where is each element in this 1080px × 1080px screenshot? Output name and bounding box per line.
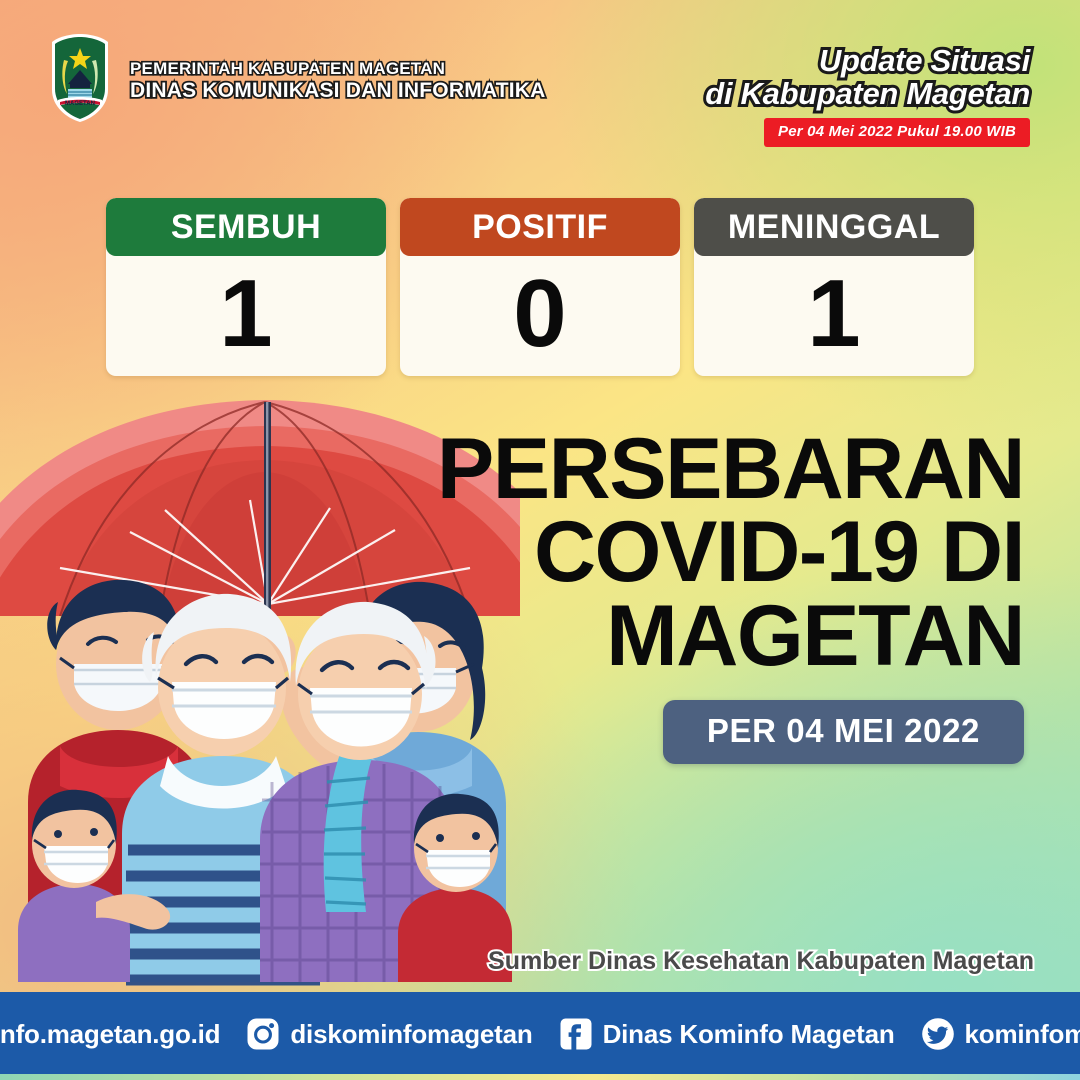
footer-facebook-label: Dinas Kominfo Magetan (603, 1019, 895, 1050)
stat-label-meninggal: MENINGGAL (728, 208, 940, 247)
brand-block: MAGETAN PEMERINTAH KABUPATEN MAGETAN DIN… (44, 32, 546, 124)
stat-cards: SEMBUH 1 POSITIF 0 MENINGGAL 1 (106, 198, 974, 376)
twitter-icon (921, 1017, 955, 1051)
update-title-line1: Update Situasi (705, 44, 1030, 77)
stat-card-sembuh: SEMBUH 1 (106, 198, 386, 376)
stat-header-sembuh: SEMBUH (106, 198, 386, 256)
update-timestamp-badge: Per 04 Mei 2022 Pukul 19.00 WIB (764, 118, 1030, 147)
title-line-1: PERSEBARAN (404, 428, 1024, 511)
svg-text:MAGETAN: MAGETAN (65, 101, 95, 107)
stat-value-sembuh: 1 (219, 266, 272, 362)
facebook-icon (559, 1017, 593, 1051)
stat-value-wrap-positif: 0 (400, 256, 680, 376)
stat-value-wrap-meninggal: 1 (694, 256, 974, 376)
stat-label-positif: POSITIF (472, 208, 608, 247)
stat-card-positif: POSITIF 0 (400, 198, 680, 376)
stat-value-wrap-sembuh: 1 (106, 256, 386, 376)
source-credit-text: Sumber Dinas Kesehatan Kabupaten Magetan (488, 947, 1034, 975)
date-badge: PER 04 MEI 2022 (663, 700, 1024, 764)
title-line-2: COVID-19 DI (404, 511, 1024, 594)
org-name-line1: PEMERINTAH KABUPATEN MAGETAN (130, 60, 546, 78)
update-situation-block: Update Situasi di Kabupaten Magetan Per … (705, 44, 1030, 147)
stat-header-positif: POSITIF (400, 198, 680, 256)
stat-header-meninggal: MENINGGAL (694, 198, 974, 256)
instagram-icon (246, 1017, 280, 1051)
title-line-3: MAGETAN (404, 595, 1024, 678)
org-name-line2: DINAS KOMUNIKASI DAN INFORMATIKA (130, 80, 546, 102)
footer-instagram-label: diskominfomagetan (290, 1019, 532, 1050)
footer-website-label: kominfo.magetan.go.id (0, 1019, 220, 1050)
footer-twitter-label: kominfomagetan1 (965, 1019, 1080, 1050)
stat-label-sembuh: SEMBUH (171, 208, 321, 247)
poster-header: MAGETAN PEMERINTAH KABUPATEN MAGETAN DIN… (0, 0, 1080, 150)
date-badge-text: PER 04 MEI 2022 (707, 712, 980, 749)
stat-card-meninggal: MENINGGAL 1 (694, 198, 974, 376)
footer-twitter[interactable]: kominfomagetan1 (921, 1017, 1080, 1051)
main-title-block: PERSEBARAN COVID-19 DI MAGETAN PER 04 ME… (404, 428, 1024, 764)
covid-update-poster: MAGETAN PEMERINTAH KABUPATEN MAGETAN DIN… (0, 0, 1080, 1080)
stat-value-meninggal: 1 (807, 266, 860, 362)
footer-instagram[interactable]: diskominfomagetan (246, 1017, 532, 1051)
footer-facebook[interactable]: Dinas Kominfo Magetan (559, 1017, 895, 1051)
footer-website[interactable]: kominfo.magetan.go.id (0, 1017, 220, 1051)
update-timestamp-text: Per 04 Mei 2022 Pukul 19.00 WIB (778, 123, 1016, 140)
source-credit: Sumber Dinas Kesehatan Kabupaten Magetan (488, 947, 1034, 976)
footer-bar: kominfo.magetan.go.id diskominfomagetan … (0, 992, 1080, 1080)
stat-value-positif: 0 (513, 266, 566, 362)
magetan-regency-crest-icon: MAGETAN (44, 32, 116, 124)
update-title-line2: di Kabupaten Magetan (705, 77, 1030, 110)
